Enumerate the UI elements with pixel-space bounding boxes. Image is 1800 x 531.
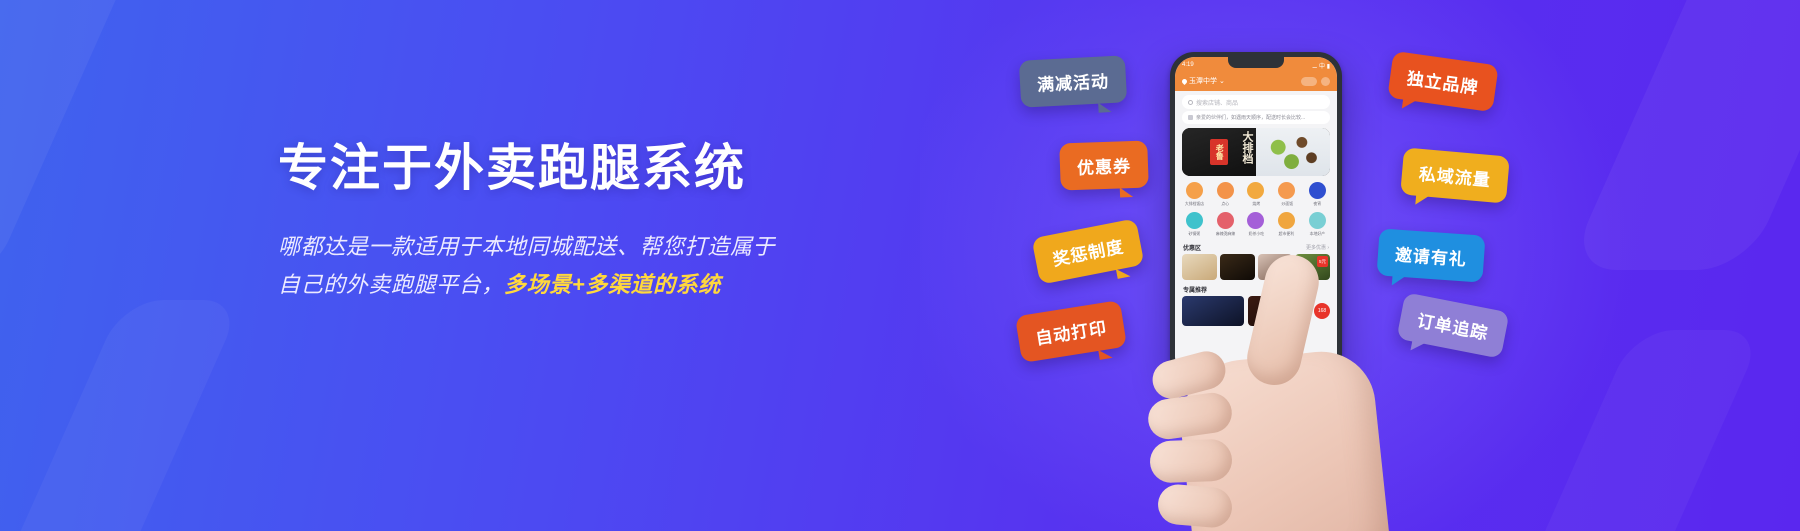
- pot-icon: [1186, 212, 1203, 229]
- decorative-stripe-1: [0, 0, 169, 280]
- store-icon: [1278, 212, 1295, 229]
- badge-label: 订单追踪: [1415, 311, 1489, 343]
- badge-yao-qing-you-li[interactable]: 邀请有礼: [1376, 228, 1485, 282]
- banner-left: 老鲁 大排档: [1182, 128, 1256, 176]
- recommend-section-title: 专属推荐: [1175, 280, 1337, 296]
- category-label: 烧烤: [1252, 201, 1260, 207]
- badge-man-jian-huo-dong[interactable]: 满减活动: [1019, 55, 1127, 107]
- search-input[interactable]: 搜索店铺、商品: [1182, 95, 1330, 109]
- badge-si-yu-liu-liang[interactable]: 私域流量: [1400, 147, 1510, 203]
- category-label: 本地好产: [1310, 231, 1325, 237]
- discount-more-link[interactable]: 更多优惠 ›: [1306, 244, 1329, 251]
- category-label: 夜宵: [1314, 201, 1322, 207]
- location-label: 玉潭中学: [1189, 76, 1217, 86]
- category-item[interactable]: 烧烤: [1241, 182, 1272, 207]
- header-actions: [1301, 77, 1330, 86]
- leaf-icon: [1309, 212, 1326, 229]
- location-pin-icon: [1181, 77, 1188, 84]
- tea-icon: [1247, 212, 1264, 229]
- discount-card-list: 5元: [1175, 254, 1337, 280]
- hotpot-icon: [1217, 212, 1234, 229]
- recommend-item[interactable]: [1182, 296, 1244, 326]
- bowl-icon: [1278, 182, 1295, 199]
- discount-card[interactable]: [1220, 254, 1255, 280]
- discount-card[interactable]: 5元: [1295, 254, 1330, 280]
- badge-label: 优惠券: [1077, 157, 1132, 178]
- finger-middle: [1146, 390, 1235, 441]
- chevron-down-icon: ⌄: [1219, 77, 1225, 85]
- discount-section-header: 优惠区 更多优惠 ›: [1175, 239, 1337, 254]
- discount-card[interactable]: [1182, 254, 1217, 280]
- category-label: 超市便利: [1279, 231, 1294, 237]
- badge-label: 私域流量: [1418, 165, 1491, 190]
- phone-mockup: 4:19 ⚊ 中 ▮ 玉潭中学 ⌄ 搜索店铺、商: [1170, 52, 1370, 531]
- category-item[interactable]: 砂锅粥: [1179, 212, 1210, 237]
- category-label: 炒面饭: [1281, 201, 1293, 207]
- badge-label: 独立品牌: [1406, 69, 1480, 98]
- recommend-list: 168: [1175, 296, 1337, 326]
- hero-copy: 专注于外卖跑腿系统 哪都达是一款适用于本地同城配送、帮您打造属于 自己的外卖跑腿…: [278, 140, 918, 305]
- decorative-stripe-3: [1567, 0, 1800, 270]
- promo-banner[interactable]: 老鲁 大排档: [1182, 128, 1330, 176]
- recommend-item[interactable]: [1248, 296, 1310, 326]
- page-title: 专注于外卖跑腿系统: [278, 140, 918, 198]
- scan-icon[interactable]: [1301, 77, 1317, 86]
- bun-icon: [1217, 182, 1234, 199]
- status-indicators: ⚊ 中 ▮: [1312, 61, 1330, 70]
- subtitle-highlight-text: 多场景+多渠道的系统: [504, 272, 721, 297]
- category-grid: 大排档饭店 点心 烧烤 炒面饭 夜宵 砂锅粥 麻辣烫麻辣 奶茶小吃 超市便利 本…: [1175, 176, 1337, 239]
- badge-zi-dong-da-yin[interactable]: 自动打印: [1015, 300, 1127, 363]
- home-indicator: [1233, 372, 1279, 375]
- search-placeholder: 搜索店铺、商品: [1196, 98, 1238, 107]
- category-label: 点心: [1221, 201, 1229, 207]
- skewer-icon: [1247, 182, 1264, 199]
- badge-label: 满减活动: [1037, 72, 1110, 95]
- app-header: 玉潭中学 ⌄: [1175, 73, 1337, 91]
- badge-jiang-cheng-zhi-du[interactable]: 奖惩制度: [1031, 218, 1144, 284]
- badge-du-li-pin-pai[interactable]: 独立品牌: [1387, 51, 1499, 112]
- megaphone-icon: [1188, 115, 1193, 120]
- location-selector[interactable]: 玉潭中学 ⌄: [1182, 76, 1225, 86]
- finger-pinky: [1156, 483, 1233, 529]
- discount-card[interactable]: [1258, 254, 1293, 280]
- category-item[interactable]: 本地好产: [1302, 212, 1333, 237]
- category-label: 砂锅粥: [1189, 231, 1201, 237]
- notice-bar[interactable]: 亲爱的伙伴们，如遇雨天顺序，配送时长会比较...: [1182, 111, 1330, 124]
- category-item[interactable]: 麻辣烫麻辣: [1210, 212, 1241, 237]
- avatar[interactable]: [1321, 77, 1330, 86]
- phone-screen: 4:19 ⚊ 中 ▮ 玉潭中学 ⌄ 搜索店铺、商: [1175, 57, 1337, 377]
- moon-icon: [1309, 182, 1326, 199]
- category-item[interactable]: 夜宵: [1302, 182, 1333, 207]
- badge-ding-dan-zhui-zong[interactable]: 订单追踪: [1396, 292, 1509, 358]
- badge-label: 邀请有礼: [1394, 246, 1467, 270]
- badge-label: 奖惩制度: [1051, 237, 1125, 269]
- decorative-stripe-4: [1465, 330, 1764, 531]
- badge-you-hui-quan[interactable]: 优惠券: [1059, 140, 1149, 190]
- hero-subtitle: 哪都达是一款适用于本地同城配送、帮您打造属于 自己的外卖跑腿平台，多场景+多渠道…: [278, 228, 918, 305]
- banner-vertical-text: 大排档: [1241, 131, 1252, 164]
- hero-banner: 专注于外卖跑腿系统 哪都达是一款适用于本地同城配送、帮您打造属于 自己的外卖跑腿…: [0, 0, 1800, 531]
- discount-section-title: 优惠区: [1183, 243, 1201, 252]
- subtitle-line-2: 自己的外卖跑腿平台，多场景+多渠道的系统: [278, 266, 918, 305]
- finger-ring: [1149, 439, 1232, 484]
- category-label: 奶茶小吃: [1248, 231, 1263, 237]
- smile-icon: [1186, 182, 1203, 199]
- decorative-stripe-2: [0, 300, 243, 531]
- subtitle-line-1: 哪都达是一款适用于本地同城配送、帮您打造属于: [278, 228, 918, 267]
- category-item[interactable]: 炒面饭: [1271, 182, 1302, 207]
- banner-seal: 老鲁: [1210, 139, 1228, 165]
- category-label: 大排档饭店: [1185, 201, 1204, 207]
- price-badge: 168: [1314, 303, 1330, 319]
- discount-tag: 5元: [1317, 256, 1328, 267]
- category-item[interactable]: 点心: [1210, 182, 1241, 207]
- category-item[interactable]: 超市便利: [1271, 212, 1302, 237]
- status-time: 4:19: [1182, 62, 1194, 68]
- category-item[interactable]: 大排档饭店: [1179, 182, 1210, 207]
- badge-label: 自动打印: [1034, 318, 1108, 348]
- phone-notch: [1228, 57, 1284, 68]
- phone-frame: 4:19 ⚊ 中 ▮ 玉潭中学 ⌄ 搜索店铺、商: [1170, 52, 1342, 382]
- subtitle-plain-text: 自己的外卖跑腿平台，: [278, 272, 504, 297]
- search-icon: [1188, 100, 1193, 105]
- category-item[interactable]: 奶茶小吃: [1241, 212, 1272, 237]
- notice-text: 亲爱的伙伴们，如遇雨天顺序，配送时长会比较...: [1196, 114, 1305, 121]
- banner-food-photo: [1256, 128, 1330, 176]
- category-label: 麻辣烫麻辣: [1216, 231, 1235, 237]
